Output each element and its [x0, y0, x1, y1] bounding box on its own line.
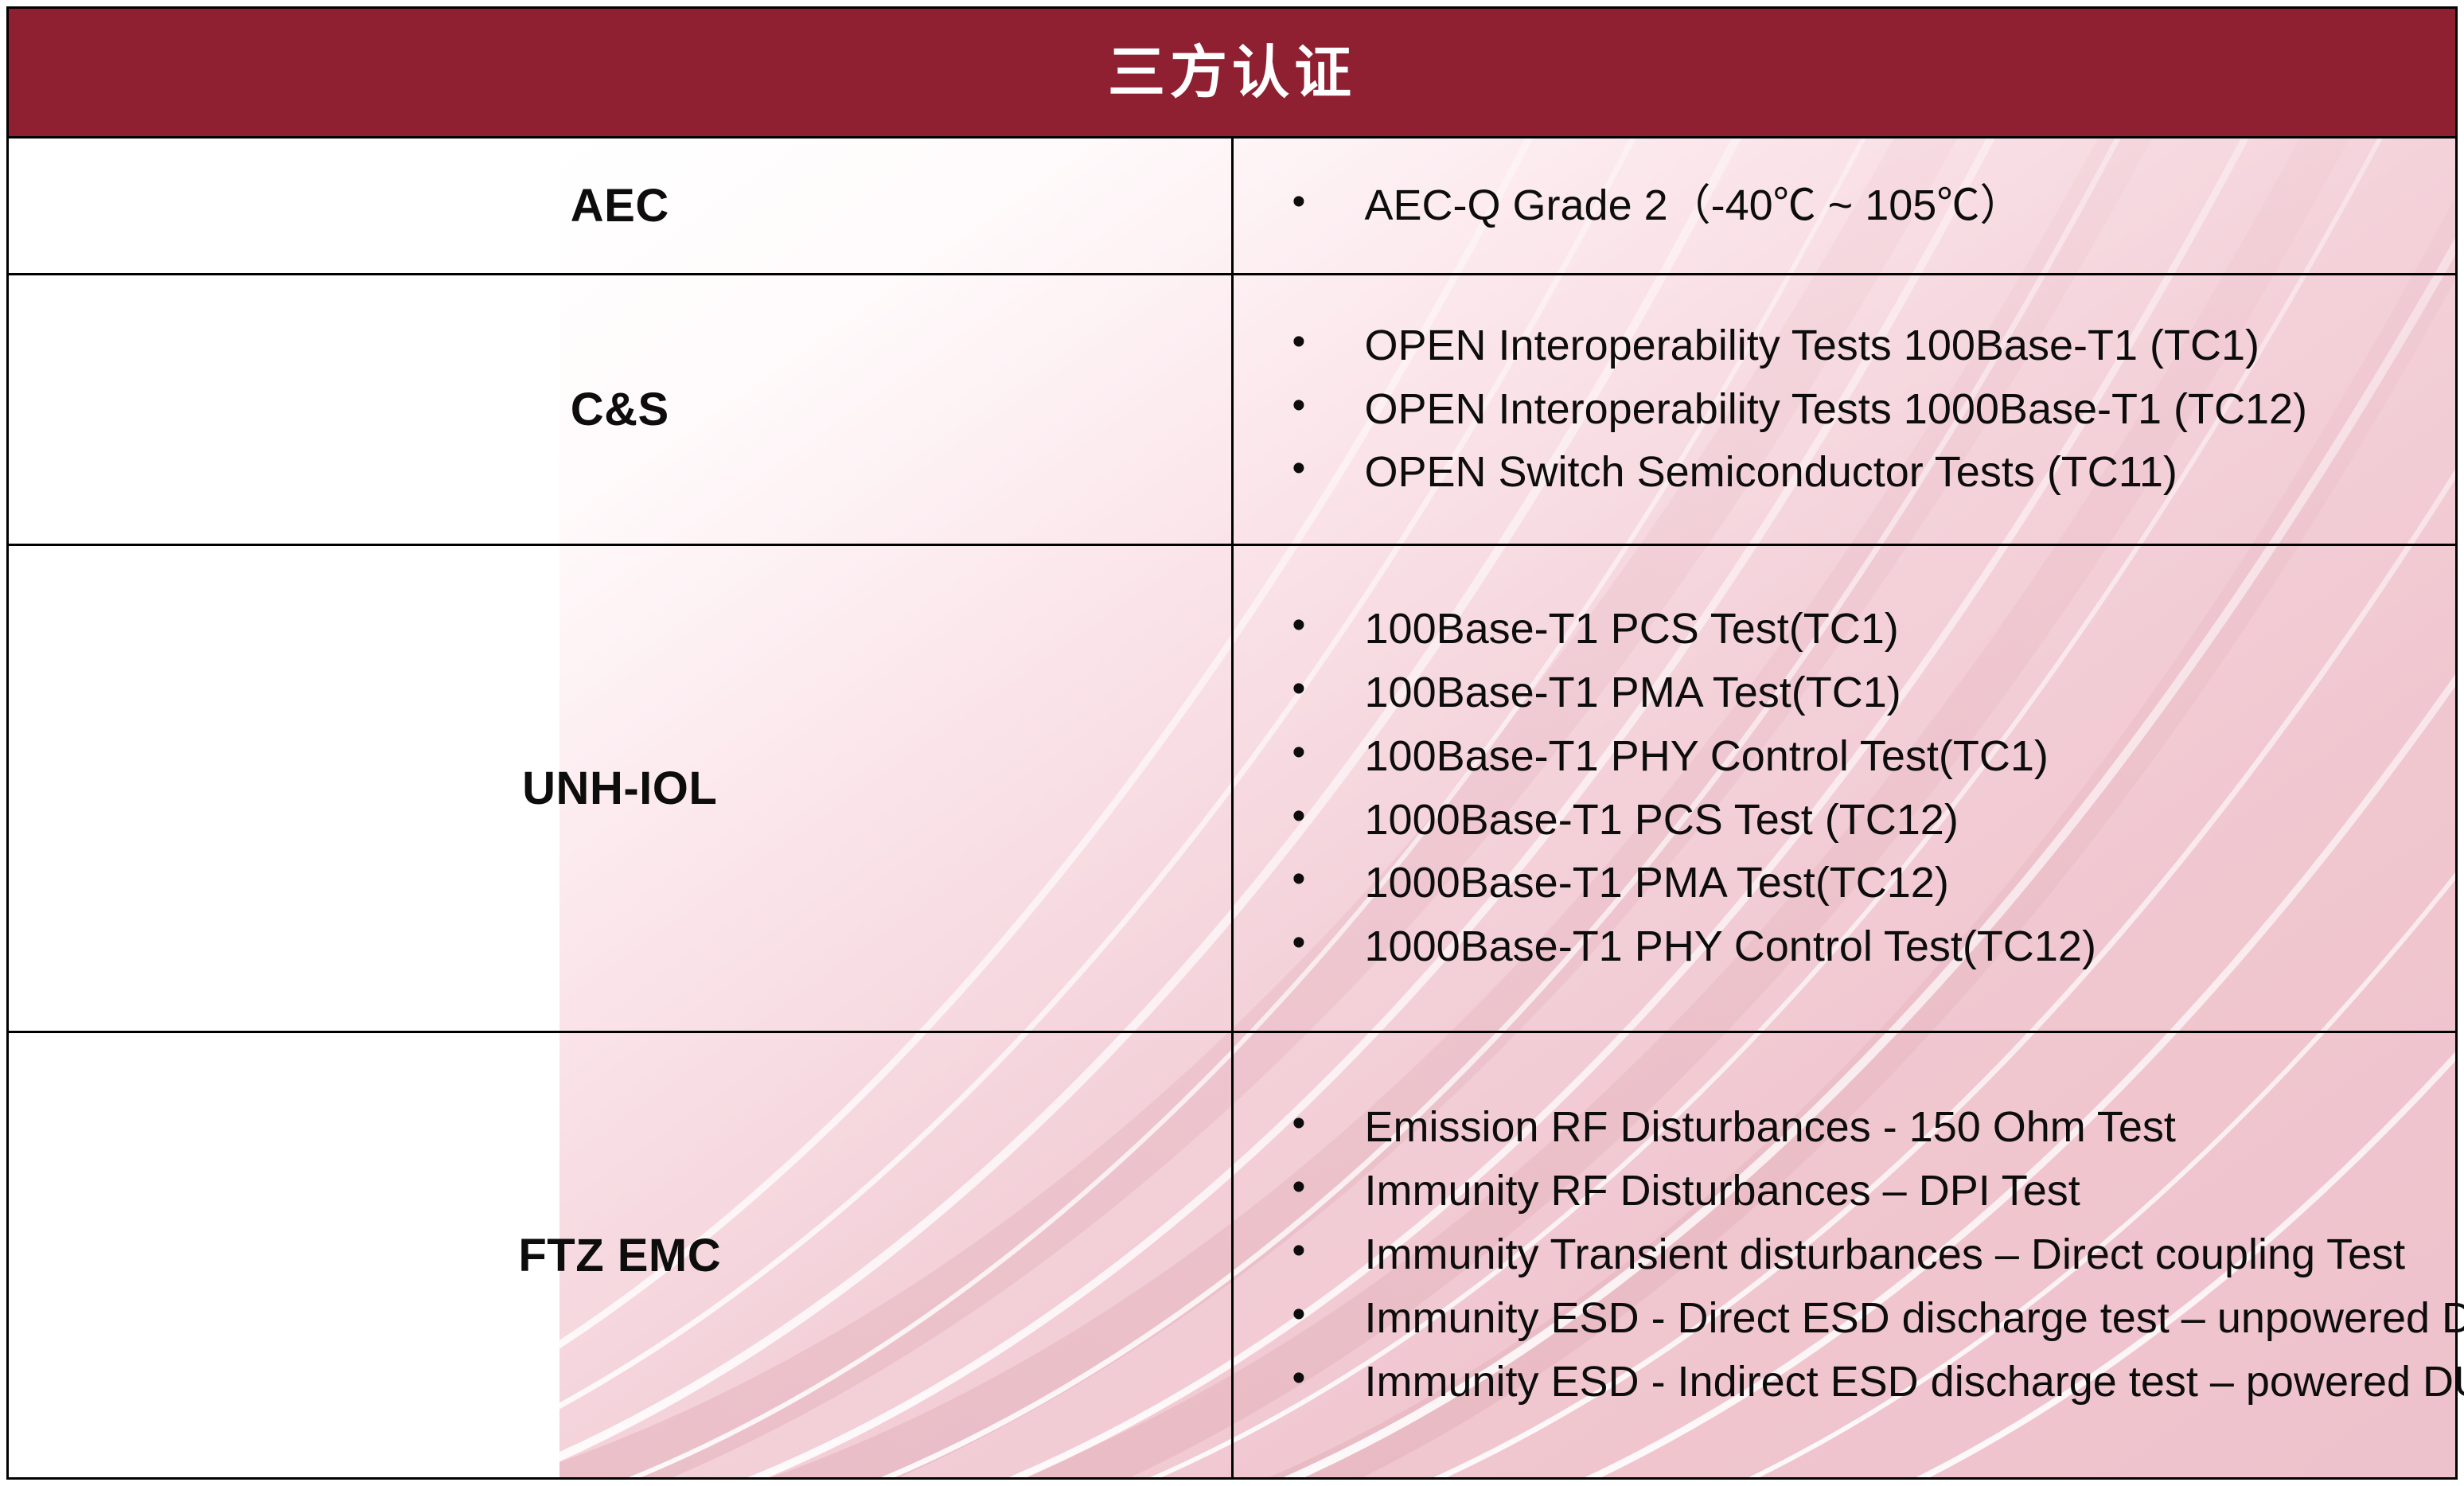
list-item: 1000Base-T1 PCS Test (TC12) [1281, 789, 2456, 852]
certification-table: 三方认证 AEC AEC-Q Grade 2（-40℃ ~ 105℃） C&S [6, 6, 2458, 1480]
certification-table-slide: 三方认证 AEC AEC-Q Grade 2（-40℃ ~ 105℃） C&S [0, 0, 2464, 1486]
table-row-ftz-emc: FTZ EMC Emission RF Disturbances - 150 O… [8, 1032, 2457, 1479]
list-item: Immunity ESD - Direct ESD discharge test… [1281, 1287, 2456, 1351]
row-content-cell-cs: OPEN Interoperability Tests 100Base-T1 (… [1232, 275, 2457, 545]
list-item: 100Base-T1 PCS Test(TC1) [1281, 598, 2456, 661]
row-label-ftz-emc: FTZ EMC [518, 1230, 721, 1281]
list-item: OPEN Interoperability Tests 1000Base-T1 … [1281, 378, 2456, 442]
row-label-unh-iol: UNH-IOL [522, 763, 717, 814]
list-item: 100Base-T1 PHY Control Test(TC1) [1281, 725, 2456, 789]
row-label-cell-ftz-emc: FTZ EMC [8, 1032, 1233, 1479]
row-content-cell-aec: AEC-Q Grade 2（-40℃ ~ 105℃） [1232, 138, 2457, 275]
list-item: AEC-Q Grade 2（-40℃ ~ 105℃） [1281, 174, 2456, 238]
list-item: Emission RF Disturbances - 150 Ohm Test [1281, 1096, 2456, 1160]
row-content-cell-ftz-emc: Emission RF Disturbances - 150 Ohm Test … [1232, 1032, 2457, 1479]
row-content-cell-unh-iol: 100Base-T1 PCS Test(TC1) 100Base-T1 PMA … [1232, 545, 2457, 1032]
list-item: OPEN Switch Semiconductor Tests (TC11) [1281, 441, 2456, 505]
list-item: Immunity RF Disturbances – DPI Test [1281, 1160, 2456, 1223]
row-label-cell-aec: AEC [8, 138, 1233, 275]
bullet-list-aec: AEC-Q Grade 2（-40℃ ~ 105℃） [1234, 174, 2456, 238]
row-label-cell-unh-iol: UNH-IOL [8, 545, 1233, 1032]
bullet-list-ftz-emc: Emission RF Disturbances - 150 Ohm Test … [1234, 1096, 2456, 1414]
table-header-cell: 三方认证 [8, 8, 2457, 138]
list-item: OPEN Interoperability Tests 100Base-T1 (… [1281, 314, 2456, 378]
list-item: 1000Base-T1 PMA Test(TC12) [1281, 852, 2456, 915]
table-row-unh-iol: UNH-IOL 100Base-T1 PCS Test(TC1) 100Base… [8, 545, 2457, 1032]
row-label-cs: C&S [571, 384, 669, 435]
bullet-list-unh-iol: 100Base-T1 PCS Test(TC1) 100Base-T1 PMA … [1234, 598, 2456, 979]
table-header-row: 三方认证 [8, 8, 2457, 138]
row-label-aec: AEC [571, 180, 669, 232]
list-item: Immunity ESD - Indirect ESD discharge te… [1281, 1351, 2456, 1414]
row-label-cell-cs: C&S [8, 275, 1233, 545]
list-item: 100Base-T1 PMA Test(TC1) [1281, 661, 2456, 725]
bullet-list-cs: OPEN Interoperability Tests 100Base-T1 (… [1234, 314, 2456, 505]
table-row-cs: C&S OPEN Interoperability Tests 100Base-… [8, 275, 2457, 545]
page-title: 三方认证 [1108, 39, 1356, 106]
list-item: 1000Base-T1 PHY Control Test(TC12) [1281, 915, 2456, 979]
table-row-aec: AEC AEC-Q Grade 2（-40℃ ~ 105℃） [8, 138, 2457, 275]
list-item: Immunity Transient disturbances – Direct… [1281, 1223, 2456, 1287]
